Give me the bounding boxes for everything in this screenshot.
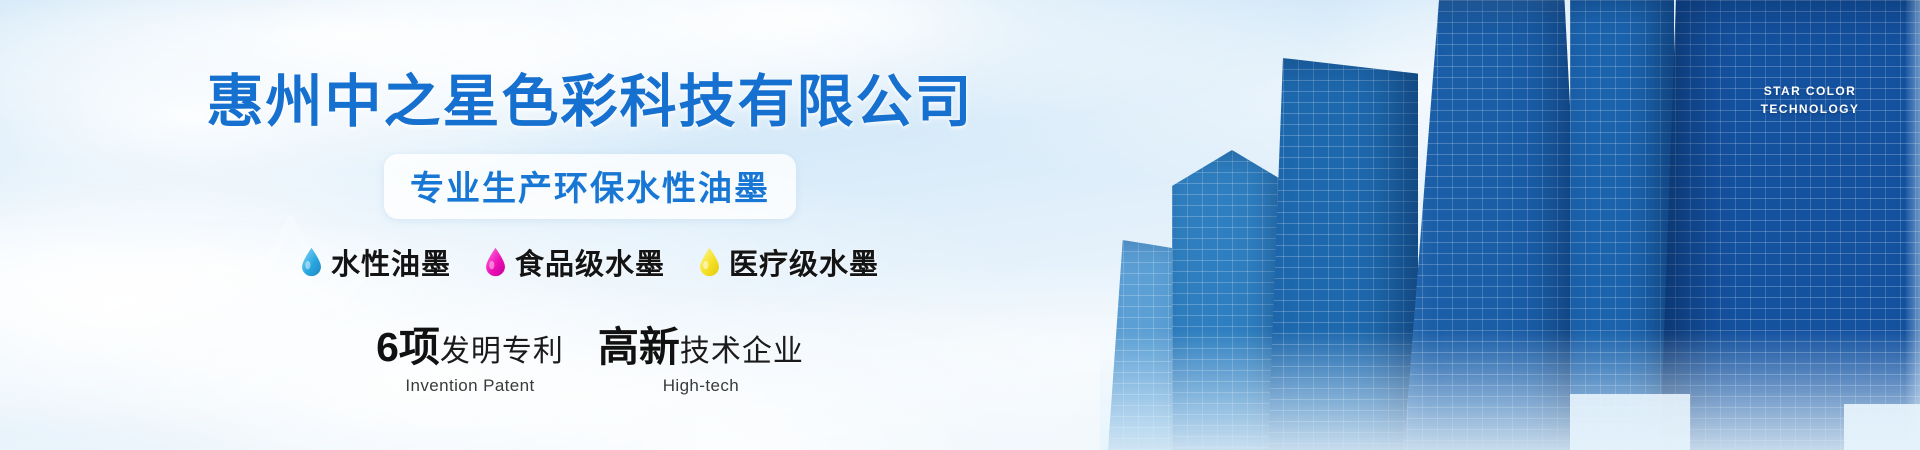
banner-content: 惠州中之星色彩科技有限公司 专业生产环保水性油墨 水性油墨: [0, 0, 1180, 450]
badge-line: 6项 发明专利: [376, 313, 564, 373]
badge-strong-text: 6项: [376, 313, 440, 373]
badge-high-tech: 高新 技术企业 High-tech: [598, 313, 804, 396]
badge-english-text: High-tech: [663, 376, 739, 396]
feature-label: 医疗级水墨: [729, 241, 879, 283]
building-brand-label: STAR COLOR TECHNOLOGY: [1730, 82, 1890, 118]
credential-badges: 6项 发明专利 Invention Patent 高新 技术企业 High-te…: [376, 313, 804, 396]
badge-invention-patent: 6项 发明专利 Invention Patent: [376, 313, 564, 396]
badge-strong-text: 高新: [598, 313, 680, 373]
water-drop-icon: [301, 247, 322, 277]
badge-rest-text: 技术企业: [680, 326, 804, 370]
badge-line: 高新 技术企业: [598, 313, 804, 373]
tagline-text: 专业生产环保水性油墨: [410, 161, 770, 210]
feature-item: 水性油墨: [301, 241, 451, 283]
badge-english-text: Invention Patent: [405, 376, 534, 396]
water-drop-icon: [485, 247, 506, 277]
company-title: 惠州中之星色彩科技有限公司: [207, 56, 974, 138]
tagline-pill: 专业生产环保水性油墨: [384, 154, 796, 219]
feature-label: 食品级水墨: [515, 241, 665, 283]
water-drop-icon: [699, 247, 720, 277]
feature-item: 食品级水墨: [485, 241, 665, 283]
product-feature-list: 水性油墨 食品级水墨: [301, 241, 879, 283]
ground-haze: [1100, 330, 1920, 450]
feature-item: 医疗级水墨: [699, 241, 879, 283]
building-brand-label-line1: STAR COLOR: [1730, 82, 1890, 100]
feature-label: 水性油墨: [331, 241, 451, 283]
badge-rest-text: 发明专利: [440, 326, 564, 370]
city-skyline-photo: STAR COLOR TECHNOLOGY: [1100, 0, 1920, 450]
company-hero-banner: Star Color STAR COLOR TECHNOLOGY 惠州中之星色彩…: [0, 0, 1920, 450]
building-brand-label-line2: TECHNOLOGY: [1730, 100, 1890, 118]
